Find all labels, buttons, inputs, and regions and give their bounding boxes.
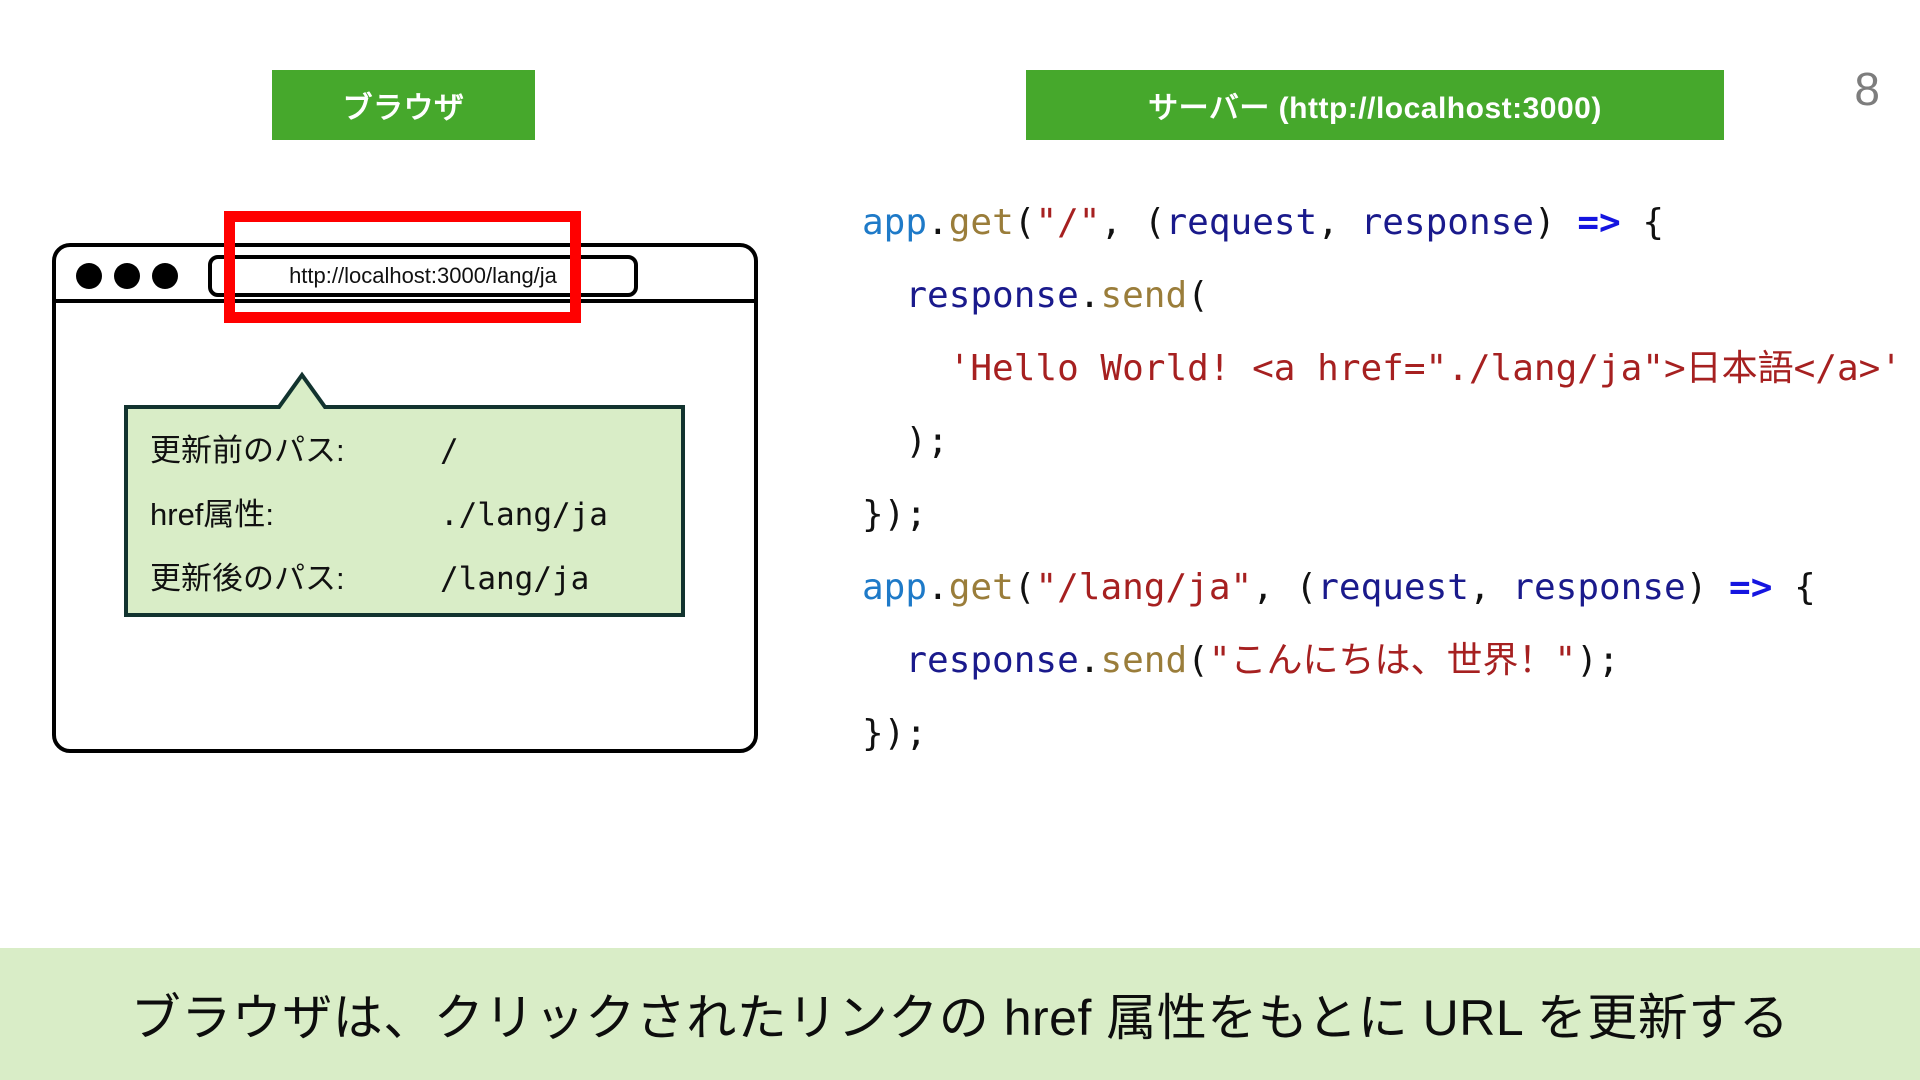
callout-row: 更新後のパス: /lang/ja (150, 553, 660, 617)
code-token: . (927, 567, 949, 608)
callout-rows: 更新前のパス: / href属性: ./lang/ja 更新後のパス: /lan… (150, 425, 660, 617)
caption-band: ブラウザは、クリックされたリンクの href 属性をもとに URL を更新する (0, 948, 1920, 1080)
code-token: }); (862, 713, 927, 754)
callout-row-label: href属性: (150, 489, 440, 534)
code-token: . (927, 202, 949, 243)
url-highlight-box (224, 211, 581, 323)
code-token: request (1166, 202, 1318, 243)
code-token: ); (1576, 640, 1619, 681)
code-token: app (862, 567, 927, 608)
code-token (862, 640, 905, 681)
callout-row-label: 更新後のパス: (150, 553, 440, 598)
minimize-dot-icon[interactable] (114, 263, 140, 289)
code-token: request (1317, 567, 1469, 608)
code-line: }); (862, 478, 1882, 551)
callout-row-value: /lang/ja (440, 561, 589, 597)
code-token: response (1512, 567, 1685, 608)
code-token: { (1621, 202, 1664, 243)
code-line: response.send( (862, 259, 1882, 332)
code-token: ) (1686, 567, 1729, 608)
code-token: ( (1187, 640, 1209, 681)
browser-section-header: ブラウザ (272, 70, 535, 140)
code-token: send (1100, 640, 1187, 681)
code-token: => (1729, 567, 1772, 608)
code-token: , ( (1252, 567, 1317, 608)
code-token: . (1079, 640, 1101, 681)
code-token: , (1317, 202, 1360, 243)
code-line: app.get("/lang/ja", (request, response) … (862, 551, 1882, 624)
close-dot-icon[interactable] (76, 263, 102, 289)
code-token: send (1100, 275, 1187, 316)
code-line: }); (862, 697, 1882, 770)
code-line: app.get("/", (request, response) => { (862, 186, 1882, 259)
code-token (862, 275, 905, 316)
code-token (862, 348, 949, 389)
code-token: get (949, 202, 1014, 243)
code-token: ) (1534, 202, 1577, 243)
code-token: ( (1187, 275, 1209, 316)
code-token: "/" (1035, 202, 1100, 243)
code-token: . (1079, 275, 1101, 316)
callout-row: 更新前のパス: / (150, 425, 660, 489)
path-callout: 更新前のパス: / href属性: ./lang/ja 更新後のパス: /lan… (124, 371, 685, 617)
code-token: get (949, 567, 1014, 608)
callout-row-label: 更新前のパス: (150, 425, 440, 470)
page-number: 8 (1854, 62, 1880, 116)
code-token: ( (1014, 202, 1036, 243)
code-token: , ( (1100, 202, 1165, 243)
code-token: response (1361, 202, 1534, 243)
code-token: { (1772, 567, 1815, 608)
code-token: "こんにちは、世界！" (1209, 640, 1576, 681)
browser-section-header-label: ブラウザ (343, 83, 465, 127)
code-token: ( (1014, 567, 1036, 608)
code-token: , (1469, 567, 1512, 608)
server-section-header-label: サーバー (http://localhost:3000) (1148, 83, 1602, 127)
callout-row-value: / (440, 433, 459, 469)
code-line: ); (862, 405, 1882, 478)
maximize-dot-icon[interactable] (152, 263, 178, 289)
code-line: response.send("こんにちは、世界！"); (862, 624, 1882, 697)
server-section-header: サーバー (http://localhost:3000) (1026, 70, 1724, 140)
callout-row-value: ./lang/ja (440, 497, 608, 533)
code-token: ); (862, 421, 949, 462)
code-token: 'Hello World! <a href="./lang/ja">日本語</a… (949, 348, 1902, 389)
code-token: "/lang/ja" (1035, 567, 1252, 608)
code-token: response (905, 275, 1078, 316)
code-token: response (905, 640, 1078, 681)
server-code-block: app.get("/", (request, response) => { re… (862, 186, 1882, 770)
code-token: }); (862, 494, 927, 535)
caption-text: ブラウザは、クリックされたリンクの href 属性をもとに URL を更新する (131, 978, 1789, 1050)
callout-row: href属性: ./lang/ja (150, 489, 660, 553)
code-token: app (862, 202, 927, 243)
code-token: => (1577, 202, 1620, 243)
code-line: 'Hello World! <a href="./lang/ja">日本語</a… (862, 332, 1882, 405)
